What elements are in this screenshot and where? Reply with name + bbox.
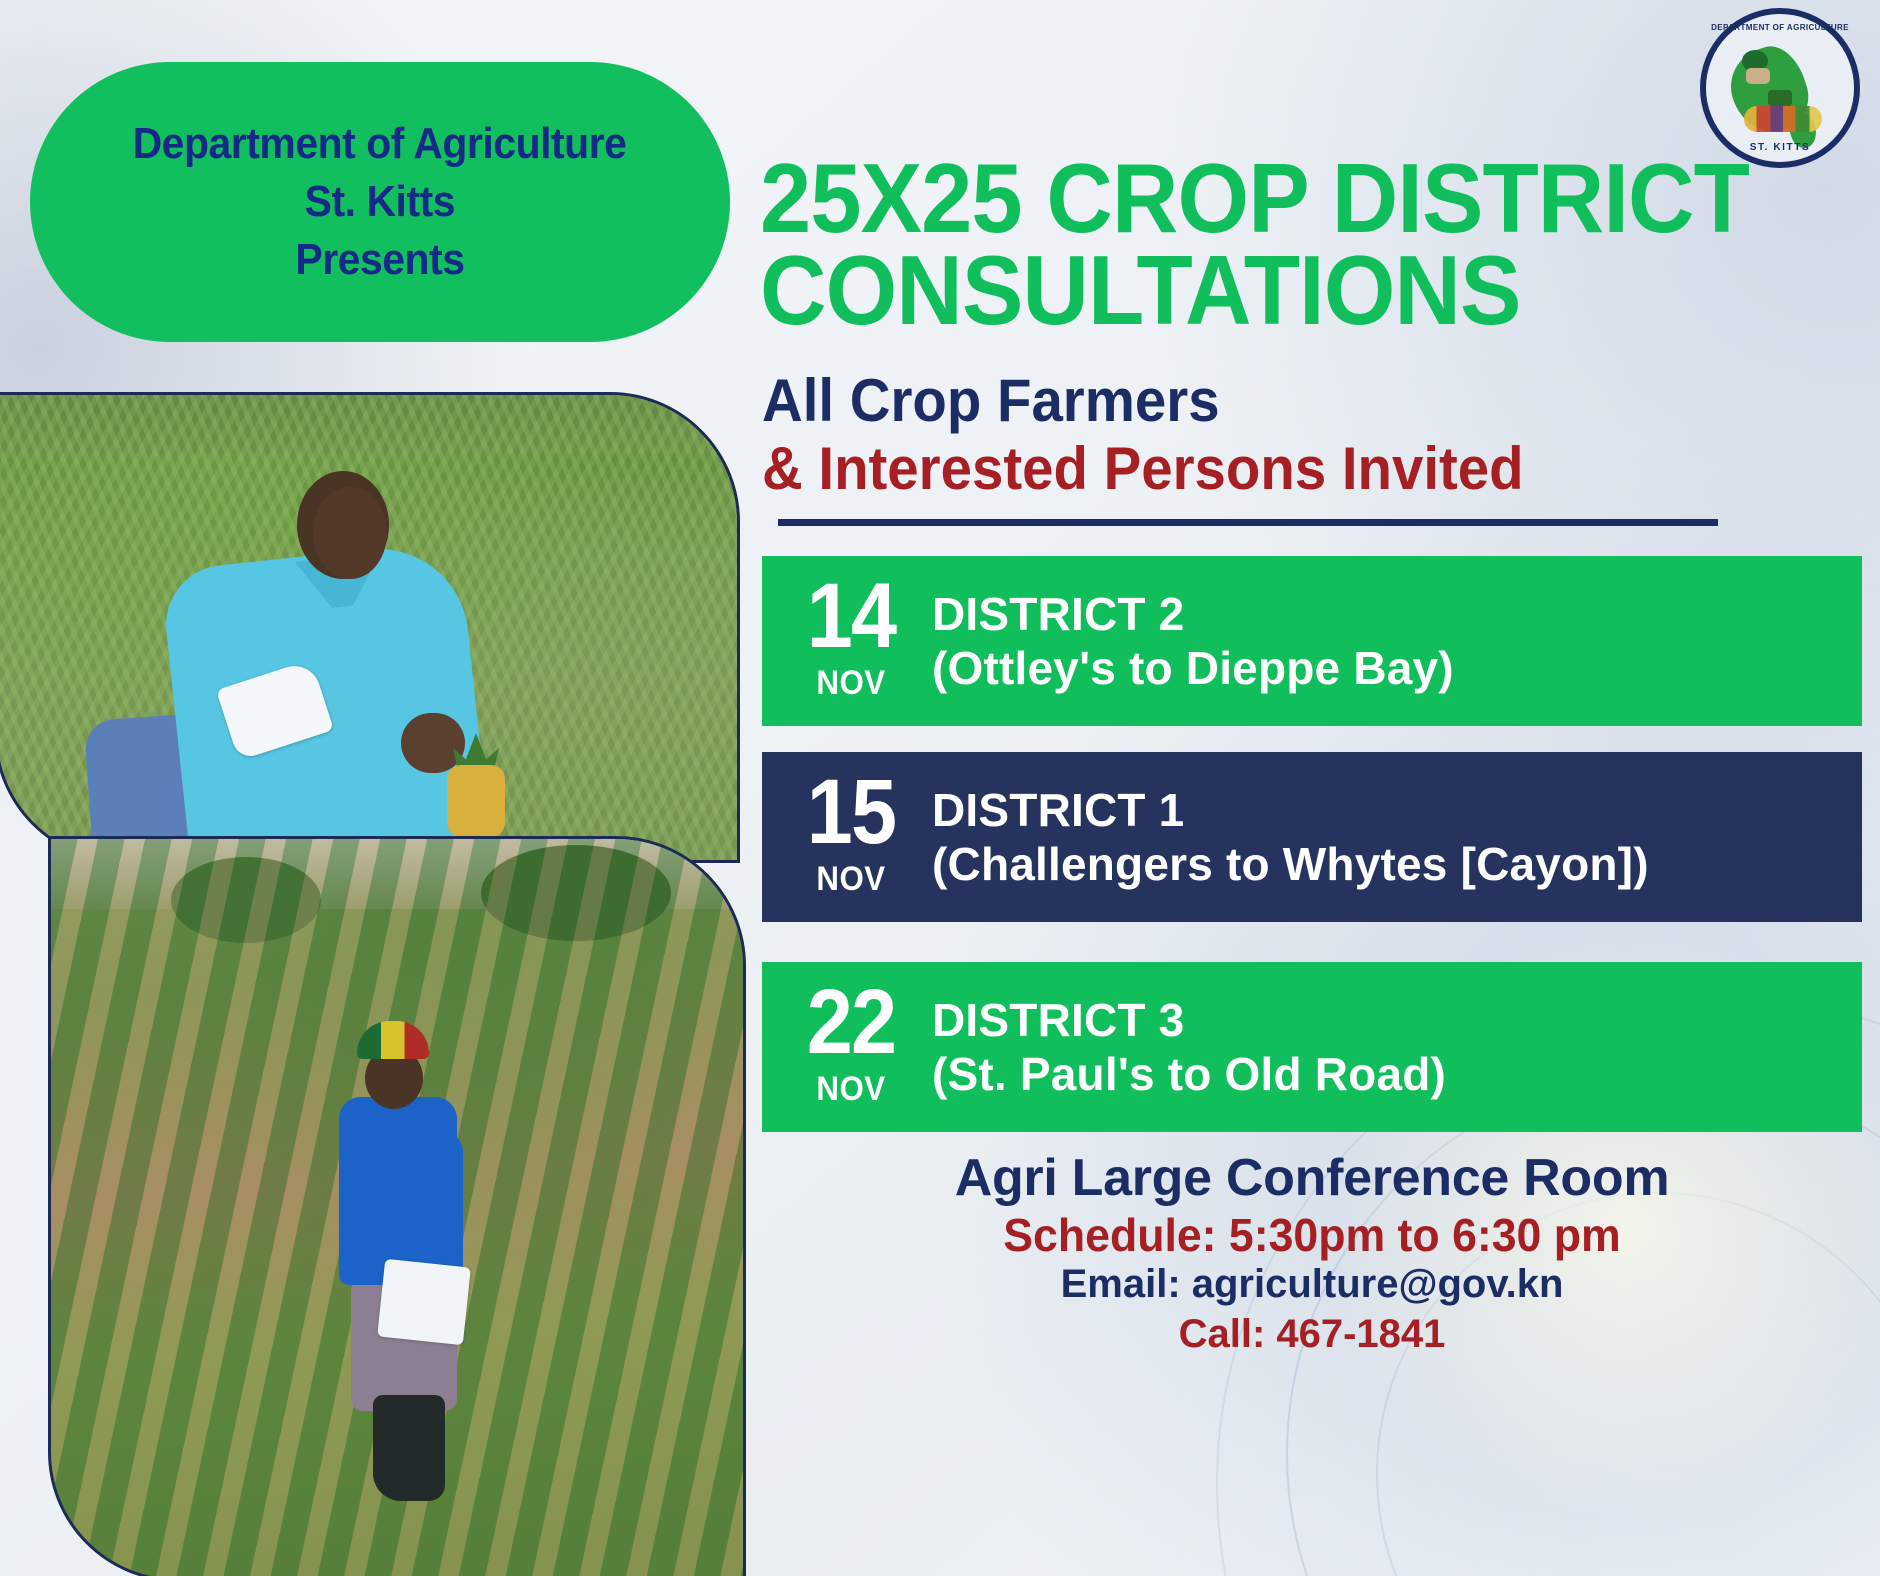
session-row-2: 15 NOV DISTRICT 1 (Challengers to Whytes… bbox=[762, 752, 1862, 922]
right-column: DEPARTMENT OF AGRICULTURE ST. KITTS 25X2… bbox=[740, 0, 1880, 1576]
session-1-day: 14 bbox=[787, 579, 915, 654]
email-text: Email: agriculture@gov.kn bbox=[762, 1262, 1862, 1307]
session-2-date: 15 NOV bbox=[762, 775, 922, 899]
subtitle-line-2: & Interested Persons Invited bbox=[762, 438, 1796, 499]
session-3-area: (St. Paul's to Old Road) bbox=[932, 1047, 1862, 1101]
presenter-line-3: Presents bbox=[295, 231, 464, 289]
session-2-area: (Challengers to Whytes [Cayon]) bbox=[932, 837, 1862, 891]
session-1-text: DISTRICT 2 (Ottley's to Dieppe Bay) bbox=[922, 587, 1862, 696]
session-2-district: DISTRICT 1 bbox=[932, 783, 1862, 837]
session-2-day: 15 bbox=[787, 775, 915, 850]
presenter-pill: Department of Agriculture St. Kitts Pres… bbox=[30, 62, 730, 342]
photo2-clipboard bbox=[377, 1259, 471, 1346]
photo1-farmer-hand bbox=[401, 713, 465, 773]
session-1-date: 14 NOV bbox=[762, 579, 922, 703]
session-2-month: NOV bbox=[786, 860, 917, 899]
session-row-3: 22 NOV DISTRICT 3 (St. Paul's to Old Roa… bbox=[762, 962, 1862, 1132]
left-column: Department of Agriculture St. Kitts Pres… bbox=[0, 0, 740, 1576]
session-3-district: DISTRICT 3 bbox=[932, 993, 1862, 1047]
session-row-1: 14 NOV DISTRICT 2 (Ottley's to Dieppe Ba… bbox=[762, 556, 1862, 726]
photo1-farmer-face bbox=[313, 487, 387, 579]
session-1-area: (Ottley's to Dieppe Bay) bbox=[932, 641, 1862, 695]
subtitle-line-1: All Crop Farmers bbox=[762, 370, 1796, 431]
seal-goat-icon bbox=[1746, 68, 1770, 84]
seal-vegetables-icon bbox=[1744, 106, 1822, 132]
photo2-farmer-boot bbox=[373, 1395, 445, 1501]
presenter-line-1: Department of Agriculture bbox=[133, 115, 627, 173]
session-3-date: 22 NOV bbox=[762, 985, 922, 1109]
session-1-month: NOV bbox=[786, 664, 917, 703]
session-3-text: DISTRICT 3 (St. Paul's to Old Road) bbox=[922, 993, 1862, 1102]
poster: Department of Agriculture St. Kitts Pres… bbox=[0, 0, 1880, 1576]
session-1-district: DISTRICT 2 bbox=[932, 587, 1862, 641]
presenter-line-2: St. Kitts bbox=[305, 173, 455, 231]
schedule-text: Schedule: 5:30pm to 6:30 pm bbox=[779, 1208, 1846, 1262]
title-line-1: 25X25 CROP DISTRICT bbox=[760, 152, 1803, 244]
page-title: 25X25 CROP DISTRICT CONSULTATIONS bbox=[760, 152, 1803, 336]
photo-crop-rows bbox=[48, 836, 746, 1576]
photo1-pineapple-fruit bbox=[447, 765, 505, 837]
session-3-month: NOV bbox=[786, 1070, 917, 1109]
venue-text: Agri Large Conference Room bbox=[762, 1148, 1862, 1208]
title-line-2: CONSULTATIONS bbox=[760, 244, 1803, 336]
session-3-day: 22 bbox=[787, 985, 915, 1060]
divider-rule bbox=[778, 519, 1718, 526]
seal-tractor-icon bbox=[1768, 90, 1792, 106]
session-2-text: DISTRICT 1 (Challengers to Whytes [Cayon… bbox=[922, 783, 1862, 892]
seal-top-label: DEPARTMENT OF AGRICULTURE bbox=[1706, 23, 1854, 32]
call-text: Call: 467-1841 bbox=[762, 1312, 1862, 1357]
photo-pineapple-field bbox=[0, 392, 740, 863]
